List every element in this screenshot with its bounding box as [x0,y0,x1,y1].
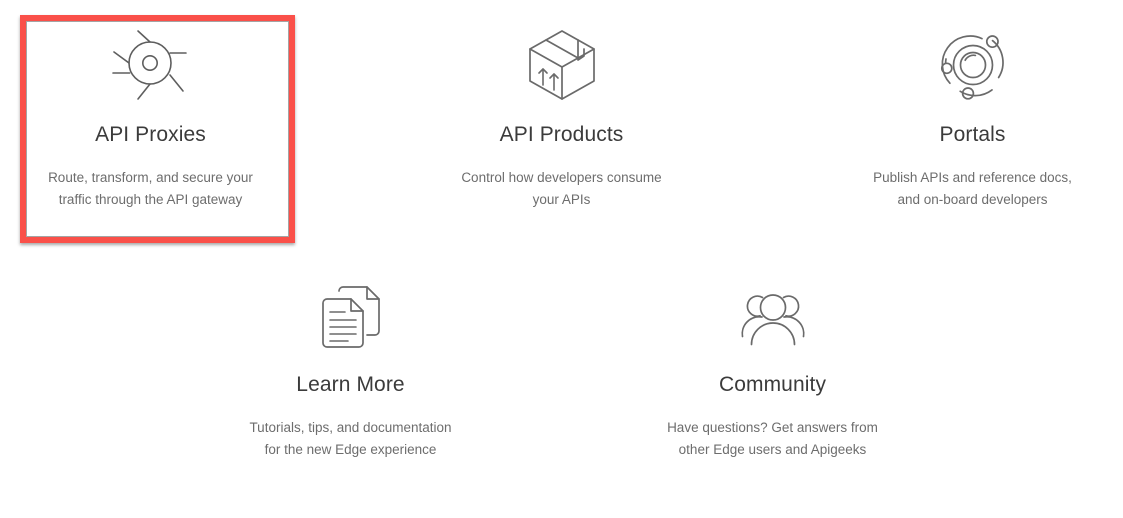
aperture-icon [13,22,288,108]
card-description-line2: for the new Edge experience [227,439,474,461]
card-description-line2: your APIs [438,189,685,211]
card-description-line2: and on-board developers [849,189,1096,211]
card-api-products[interactable]: API Products Control how developers cons… [424,22,699,211]
card-title: Learn More [213,372,488,398]
card-api-proxies[interactable]: API Proxies Route, transform, and secure… [13,22,288,211]
card-description-line2: traffic through the API gateway [27,189,274,211]
documents-icon [213,272,488,358]
card-description-line1: Publish APIs and reference docs, [873,170,1072,185]
card-description: Publish APIs and reference docs, and on-… [835,167,1110,211]
card-title: Portals [835,122,1110,148]
card-description: Have questions? Get answers from other E… [635,417,910,461]
card-description-line2: other Edge users and Apigeeks [649,439,896,461]
card-description-line1: Have questions? Get answers from [667,420,878,435]
card-description-line1: Control how developers consume [461,170,661,185]
card-description: Control how developers consume your APIs [424,167,699,211]
card-description: Tutorials, tips, and documentation for t… [213,417,488,461]
card-description-line1: Tutorials, tips, and documentation [249,420,451,435]
card-learn-more[interactable]: Learn More Tutorials, tips, and document… [213,272,488,461]
card-title: API Proxies [13,122,288,148]
card-description-line1: Route, transform, and secure your [48,170,253,185]
card-title: Community [635,372,910,398]
card-community[interactable]: Community Have questions? Get answers fr… [635,272,910,461]
orbit-icon [835,22,1110,108]
landing-cards-canvas: API Proxies Route, transform, and secure… [0,0,1123,518]
card-portals[interactable]: Portals Publish APIs and reference docs,… [835,22,1110,211]
card-description: Route, transform, and secure your traffi… [13,167,288,211]
card-title: API Products [424,122,699,148]
package-box-icon [424,22,699,108]
people-group-icon [635,272,910,358]
